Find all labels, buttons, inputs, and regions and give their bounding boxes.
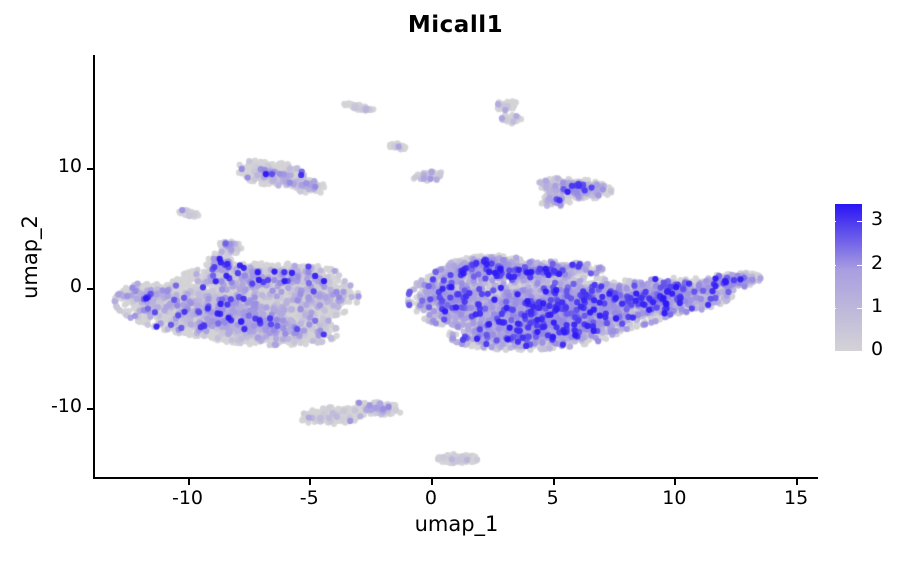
x-tick-mark bbox=[309, 479, 311, 485]
x-tick-label: 15 bbox=[766, 487, 826, 509]
colorbar-tick bbox=[857, 221, 862, 222]
colorbar-tick bbox=[857, 265, 862, 266]
x-axis-label: umap_1 bbox=[95, 512, 818, 536]
x-tick-mark bbox=[674, 479, 676, 485]
y-tick-mark bbox=[87, 168, 93, 170]
x-tick-mark bbox=[188, 479, 190, 485]
x-tick-label: 0 bbox=[401, 487, 461, 509]
page-title: Micall1 bbox=[0, 12, 911, 38]
figure-canvas: Micall1 -10-5051015-10010 umap_1 umap_2 … bbox=[0, 0, 911, 562]
colorbar-tick bbox=[857, 308, 862, 309]
colorbar-gradient bbox=[835, 204, 862, 351]
scatter-points bbox=[95, 55, 818, 478]
colorbar-tick bbox=[857, 351, 862, 352]
x-tick-label: 5 bbox=[523, 487, 583, 509]
y-axis-label: umap_2 bbox=[18, 167, 42, 347]
colorbar-tick bbox=[831, 308, 836, 309]
x-tick-label: 10 bbox=[644, 487, 704, 509]
colorbar-tick bbox=[831, 351, 836, 352]
colorbar-legend bbox=[835, 204, 862, 351]
y-tick-label: -10 bbox=[0, 395, 82, 417]
y-tick-mark bbox=[87, 408, 93, 410]
x-tick-label: -10 bbox=[158, 487, 218, 509]
x-tick-mark bbox=[796, 479, 798, 485]
x-tick-mark bbox=[431, 479, 433, 485]
colorbar-tick-label: 3 bbox=[871, 208, 883, 230]
plot-area bbox=[95, 55, 818, 478]
colorbar-tick bbox=[831, 265, 836, 266]
y-tick-mark bbox=[87, 288, 93, 290]
colorbar-tick bbox=[831, 221, 836, 222]
colorbar-tick-label: 2 bbox=[871, 252, 883, 274]
colorbar-tick-label: 1 bbox=[871, 295, 883, 317]
colorbar-tick-label: 0 bbox=[871, 338, 883, 360]
x-tick-label: -5 bbox=[279, 487, 339, 509]
x-tick-mark bbox=[553, 479, 555, 485]
